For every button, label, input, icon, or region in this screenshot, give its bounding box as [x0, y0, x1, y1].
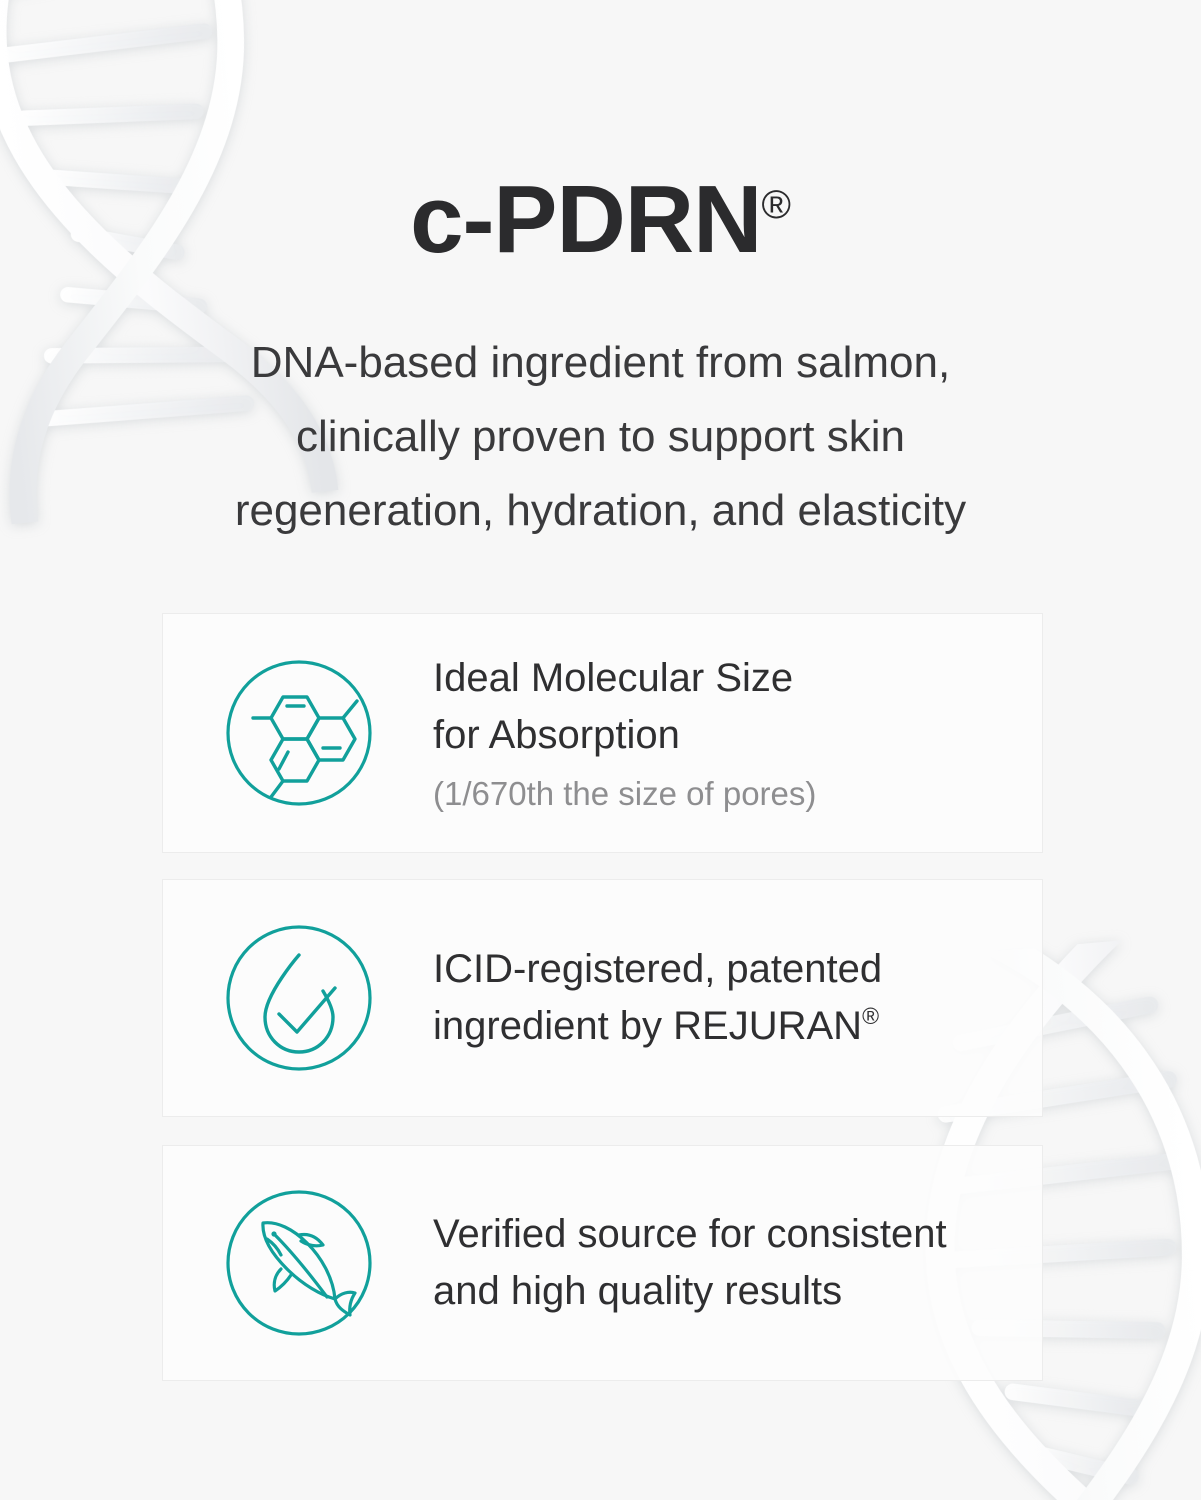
page-title: c-PDRN® [0, 170, 1201, 271]
feature-card-title: Ideal Molecular Size for Absorption [433, 650, 1012, 764]
feature-card-verified-source: Verified source for consistent and high … [162, 1145, 1043, 1381]
feature-card-text: Verified source for consistent and high … [433, 1206, 1042, 1320]
feature-card-title: ICID-registered, patented ingredient by … [433, 941, 1012, 1055]
feature-card-title-line-2: for Absorption [433, 707, 1012, 764]
infographic-page: c-PDRN® DNA-based ingredient from salmon… [0, 0, 1201, 1500]
feature-card-text: Ideal Molecular Size for Absorption (1/6… [433, 650, 1042, 816]
registered-trademark-mark: ® [761, 183, 790, 227]
fish-icon [223, 1187, 375, 1339]
feature-card-title: Verified source for consistent and high … [433, 1206, 1012, 1320]
feature-card-title-line-1: Verified source for consistent [433, 1206, 1012, 1263]
molecule-icon [223, 657, 375, 809]
subtitle-line-2: clinically proven to support skin [100, 400, 1101, 474]
rejuran-registered-mark: ® [862, 1003, 879, 1029]
page-title-text: c-PDRN [410, 166, 761, 273]
feature-card-title-line-1: ICID-registered, patented [433, 941, 1012, 998]
feature-card-title-line-2-text: ingredient by REJURAN [433, 1004, 862, 1048]
feature-card-subtext: (1/670th the size of pores) [433, 773, 1012, 816]
feature-card-title-line-2: ingredient by REJURAN® [433, 998, 1012, 1055]
feature-card-list: Ideal Molecular Size for Absorption (1/6… [162, 613, 1043, 1381]
feature-card-title-line-2: and high quality results [433, 1263, 1012, 1320]
feature-card-title-line-1: Ideal Molecular Size [433, 650, 1012, 707]
feature-card-molecular-size: Ideal Molecular Size for Absorption (1/6… [162, 613, 1043, 853]
subtitle-line-3: regeneration, hydration, and elasticity [100, 474, 1101, 548]
water-drop-check-icon [223, 922, 375, 1074]
subtitle-line-1: DNA-based ingredient from salmon, [100, 326, 1101, 400]
feature-card-text: ICID-registered, patented ingredient by … [433, 941, 1042, 1055]
feature-card-icid-registered: ICID-registered, patented ingredient by … [162, 879, 1043, 1117]
page-subtitle: DNA-based ingredient from salmon, clinic… [100, 326, 1101, 548]
